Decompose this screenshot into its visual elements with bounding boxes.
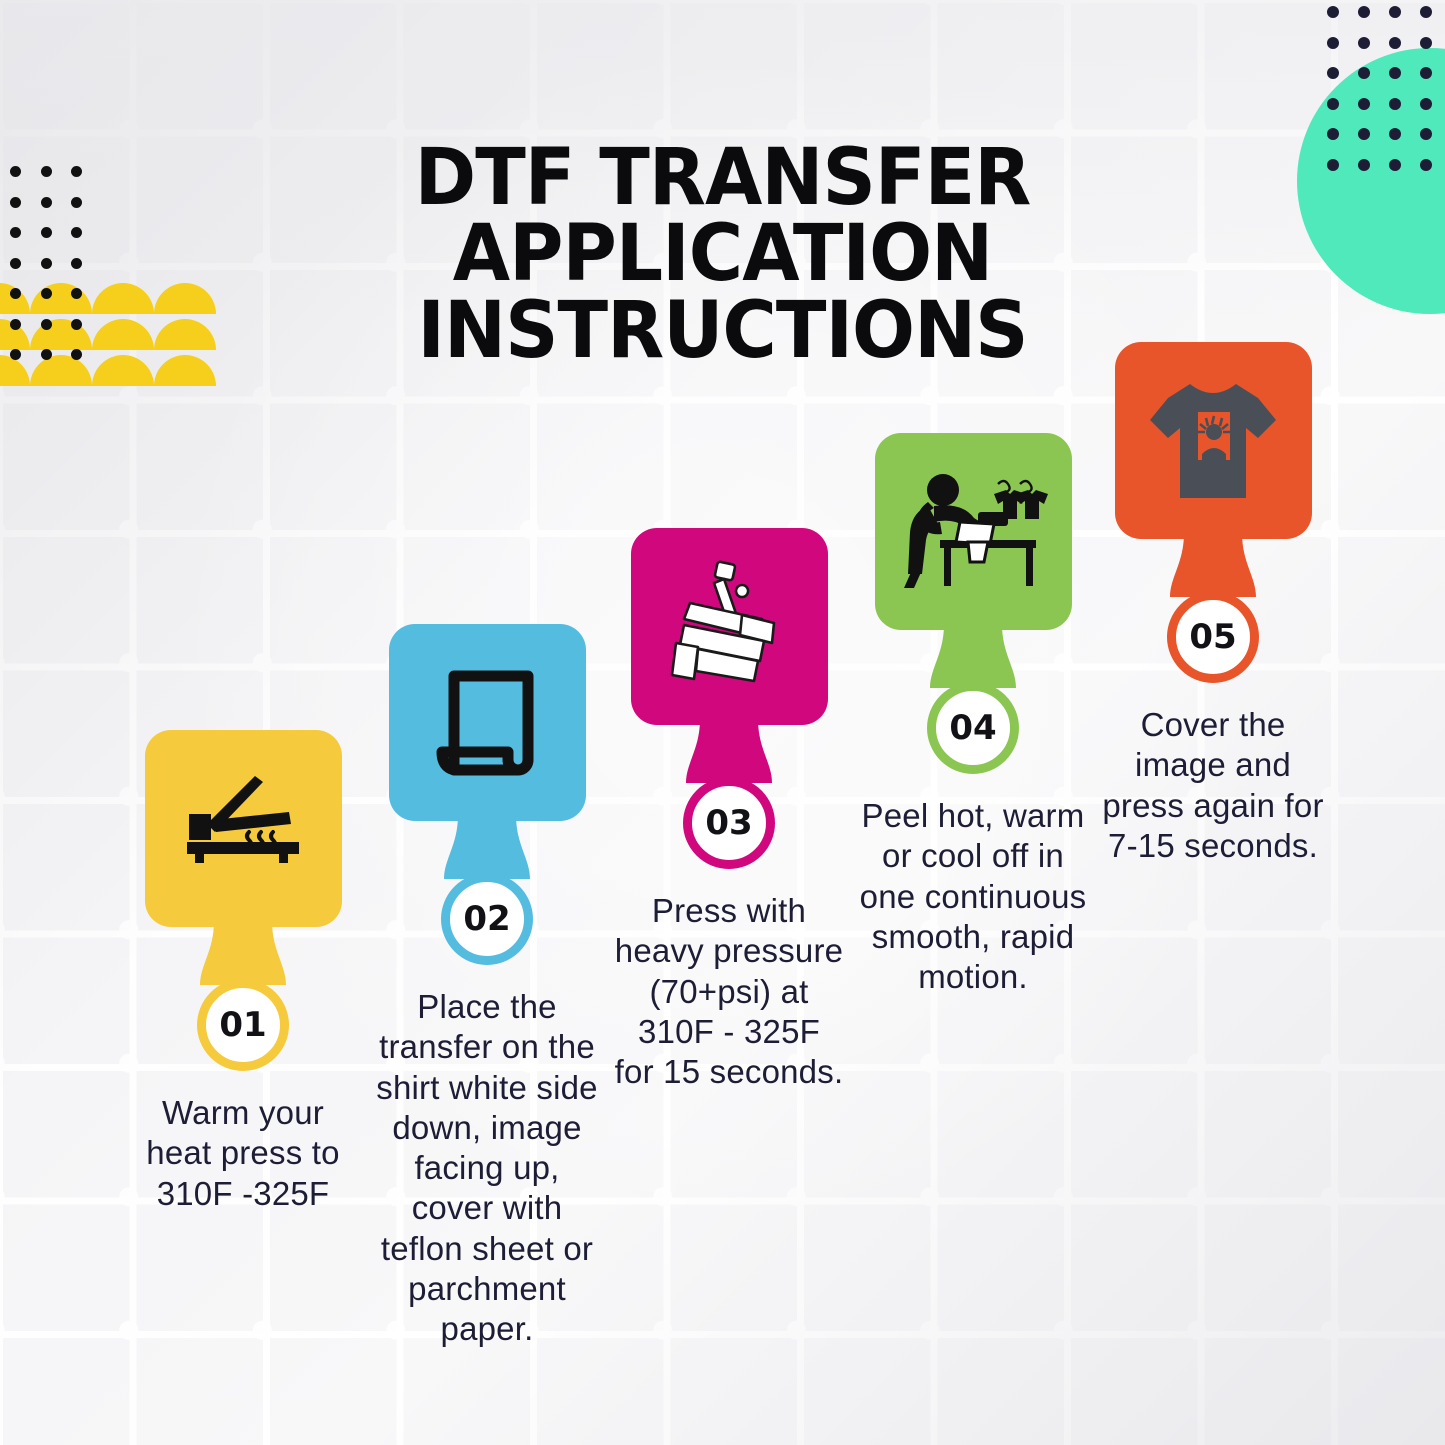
step-05-badge: 05 xyxy=(1167,591,1259,683)
infographic-canvas: DTF TRANSFER APPLICATION INSTRUCTIONS xyxy=(0,0,1445,1445)
step-01-caption: Warm your heat press to 310F -325F xyxy=(128,1093,358,1214)
step-04-pin: 04 xyxy=(858,433,1088,774)
step-04[interactable]: 04 Peel hot, warm or cool off in one con… xyxy=(858,433,1088,997)
step-04-badge: 04 xyxy=(927,682,1019,774)
step-02-number: 02 xyxy=(463,902,510,936)
person-peeling-transfer-icon xyxy=(898,466,1048,598)
step-04-caption: Peel hot, warm or cool off in one contin… xyxy=(858,796,1088,997)
step-05-card xyxy=(1115,342,1312,539)
step-02-card xyxy=(389,624,586,821)
step-03-pin: 03 xyxy=(614,528,844,869)
step-01[interactable]: 01 Warm your heat press to 310F -325F xyxy=(128,730,358,1214)
page-title-line1: DTF TRANSFER APPLICATION xyxy=(415,133,1031,299)
step-02[interactable]: 02 Place the transfer on the shirt white… xyxy=(372,624,602,1349)
step-05-caption: Cover the image and press again for 7-15… xyxy=(1098,705,1328,866)
step-02-badge: 02 xyxy=(441,873,533,965)
step-03-badge: 03 xyxy=(683,777,775,869)
heat-press-open-icon xyxy=(179,774,307,884)
heat-press-machine-icon xyxy=(654,557,804,697)
step-01-badge: 01 xyxy=(197,979,289,1071)
step-05-number: 05 xyxy=(1189,620,1236,654)
step-01-card xyxy=(145,730,342,927)
step-02-pin: 02 xyxy=(372,624,602,965)
step-01-pin: 01 xyxy=(128,730,358,1071)
step-03-card xyxy=(631,528,828,725)
transfer-sheet-icon xyxy=(428,664,546,782)
step-02-caption: Place the transfer on the shirt white si… xyxy=(372,987,602,1349)
step-03-number: 03 xyxy=(705,806,752,840)
step-04-number: 04 xyxy=(949,711,996,745)
step-01-number: 01 xyxy=(219,1008,266,1042)
step-04-card xyxy=(875,433,1072,630)
step-03-caption: Press with heavy pressure (70+psi) at 31… xyxy=(614,891,844,1092)
step-05[interactable]: 05 Cover the image and press again for 7… xyxy=(1098,342,1328,866)
printed-tshirt-icon xyxy=(1142,376,1284,506)
step-05-pin: 05 xyxy=(1098,342,1328,683)
page-title: DTF TRANSFER APPLICATION INSTRUCTIONS xyxy=(36,140,1409,369)
step-03[interactable]: 03 Press with heavy pressure (70+psi) at… xyxy=(614,528,844,1092)
